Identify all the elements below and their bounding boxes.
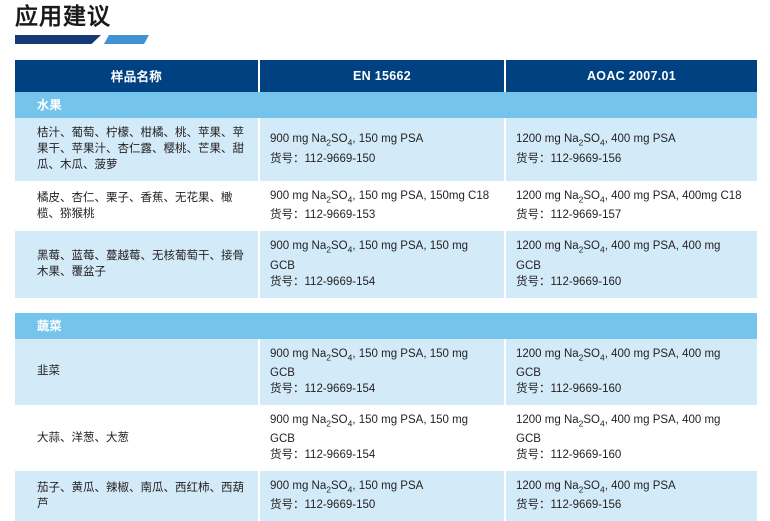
column-header-en-15662: EN 15662	[259, 60, 505, 92]
en-product-text: 900 mg Na2SO4, 150 mg PSA, 150mg C18	[270, 188, 494, 207]
page-title: 应用建议	[15, 2, 415, 31]
title-rule-light	[104, 35, 149, 44]
title-underline-rules	[15, 35, 145, 45]
en-product-text: 900 mg Na2SO4, 150 mg PSA, 150 mg GCB	[270, 238, 494, 273]
section-spacer	[15, 298, 757, 313]
en-catalog-number: 货号：112-9669-150	[270, 151, 494, 167]
en-catalog-number: 货号：112-9669-153	[270, 207, 494, 223]
column-header-sample-name: 样品名称	[15, 60, 259, 92]
en-catalog-number: 货号：112-9669-150	[270, 497, 494, 513]
aoac-product-text: 1200 mg Na2SO4, 400 mg PSA, 400 mg GCB	[516, 238, 747, 273]
section-spacer-cell	[15, 298, 757, 313]
cell-sample-name: 茄子、黄瓜、辣椒、南瓜、西红柿、西葫芦	[15, 471, 259, 521]
en-catalog-number: 货号：112-9669-154	[270, 274, 494, 290]
section-header-row: 水果	[15, 92, 757, 118]
section-header-row: 蔬菜	[15, 313, 757, 339]
cell-sample-name: 大蒜、洋葱、大葱	[15, 405, 259, 471]
cell-en-15662: 900 mg Na2SO4, 150 mg PSA货号：112-9669-150	[259, 118, 505, 181]
table-row: 橘皮、杏仁、栗子、香蕉、无花果、橄榄、猕猴桃900 mg Na2SO4, 150…	[15, 181, 757, 231]
aoac-catalog-number: 货号：112-9669-160	[516, 447, 747, 463]
aoac-catalog-number: 货号：112-9669-160	[516, 381, 747, 397]
en-product-text: 900 mg Na2SO4, 150 mg PSA	[270, 478, 494, 497]
en-catalog-number: 货号：112-9669-154	[270, 381, 494, 397]
cell-aoac-2007-01: 1200 mg Na2SO4, 400 mg PSA, 400 mg GCB货号…	[505, 231, 757, 297]
cell-en-15662: 900 mg Na2SO4, 150 mg PSA, 150 mg GCB货号：…	[259, 231, 505, 297]
application-recommendation-table: 样品名称 EN 15662 AOAC 2007.01 水果桔汁、葡萄、柠檬、柑橘…	[15, 60, 757, 521]
aoac-catalog-number: 货号：112-9669-156	[516, 151, 747, 167]
column-header-aoac-2007-01: AOAC 2007.01	[505, 60, 757, 92]
cell-aoac-2007-01: 1200 mg Na2SO4, 400 mg PSA货号：112-9669-15…	[505, 471, 757, 521]
cell-sample-name: 黑莓、蓝莓、蔓越莓、无核葡萄干、接骨木果、覆盆子	[15, 231, 259, 297]
cell-aoac-2007-01: 1200 mg Na2SO4, 400 mg PSA, 400 mg GCB货号…	[505, 405, 757, 471]
table-body: 水果桔汁、葡萄、柠檬、柑橘、桃、苹果、苹果干、苹果汁、杏仁露、樱桃、芒果、甜瓜、…	[15, 92, 757, 521]
table-row: 黑莓、蓝莓、蔓越莓、无核葡萄干、接骨木果、覆盆子900 mg Na2SO4, 1…	[15, 231, 757, 297]
section-header-label: 蔬菜	[15, 313, 757, 339]
aoac-product-text: 1200 mg Na2SO4, 400 mg PSA	[516, 131, 747, 150]
cell-sample-name: 桔汁、葡萄、柠檬、柑橘、桃、苹果、苹果干、苹果汁、杏仁露、樱桃、芒果、甜瓜、木瓜…	[15, 118, 259, 181]
aoac-catalog-number: 货号：112-9669-157	[516, 207, 747, 223]
table-head: 样品名称 EN 15662 AOAC 2007.01	[15, 60, 757, 92]
aoac-product-text: 1200 mg Na2SO4, 400 mg PSA	[516, 478, 747, 497]
cell-en-15662: 900 mg Na2SO4, 150 mg PSA, 150 mg GCB货号：…	[259, 339, 505, 405]
aoac-product-text: 1200 mg Na2SO4, 400 mg PSA, 400 mg GCB	[516, 346, 747, 381]
title-rule-dark	[15, 35, 101, 44]
section-header-label: 水果	[15, 92, 757, 118]
aoac-catalog-number: 货号：112-9669-156	[516, 497, 747, 513]
cell-sample-name: 韭菜	[15, 339, 259, 405]
cell-en-15662: 900 mg Na2SO4, 150 mg PSA, 150 mg GCB货号：…	[259, 405, 505, 471]
aoac-product-text: 1200 mg Na2SO4, 400 mg PSA, 400mg C18	[516, 188, 747, 207]
cell-aoac-2007-01: 1200 mg Na2SO4, 400 mg PSA货号：112-9669-15…	[505, 118, 757, 181]
table-row: 茄子、黄瓜、辣椒、南瓜、西红柿、西葫芦900 mg Na2SO4, 150 mg…	[15, 471, 757, 521]
cell-sample-name: 橘皮、杏仁、栗子、香蕉、无花果、橄榄、猕猴桃	[15, 181, 259, 231]
cell-aoac-2007-01: 1200 mg Na2SO4, 400 mg PSA, 400mg C18货号：…	[505, 181, 757, 231]
cell-en-15662: 900 mg Na2SO4, 150 mg PSA, 150mg C18货号：1…	[259, 181, 505, 231]
table-row: 桔汁、葡萄、柠檬、柑橘、桃、苹果、苹果干、苹果汁、杏仁露、樱桃、芒果、甜瓜、木瓜…	[15, 118, 757, 181]
table-row: 大蒜、洋葱、大葱900 mg Na2SO4, 150 mg PSA, 150 m…	[15, 405, 757, 471]
table-header-row: 样品名称 EN 15662 AOAC 2007.01	[15, 60, 757, 92]
aoac-catalog-number: 货号：112-9669-160	[516, 274, 747, 290]
table-row: 韭菜900 mg Na2SO4, 150 mg PSA, 150 mg GCB货…	[15, 339, 757, 405]
page-header: 应用建议	[15, 2, 415, 45]
cell-aoac-2007-01: 1200 mg Na2SO4, 400 mg PSA, 400 mg GCB货号…	[505, 339, 757, 405]
aoac-product-text: 1200 mg Na2SO4, 400 mg PSA, 400 mg GCB	[516, 412, 747, 447]
en-product-text: 900 mg Na2SO4, 150 mg PSA, 150 mg GCB	[270, 346, 494, 381]
cell-en-15662: 900 mg Na2SO4, 150 mg PSA货号：112-9669-150	[259, 471, 505, 521]
en-product-text: 900 mg Na2SO4, 150 mg PSA	[270, 131, 494, 150]
en-product-text: 900 mg Na2SO4, 150 mg PSA, 150 mg GCB	[270, 412, 494, 447]
en-catalog-number: 货号：112-9669-154	[270, 447, 494, 463]
